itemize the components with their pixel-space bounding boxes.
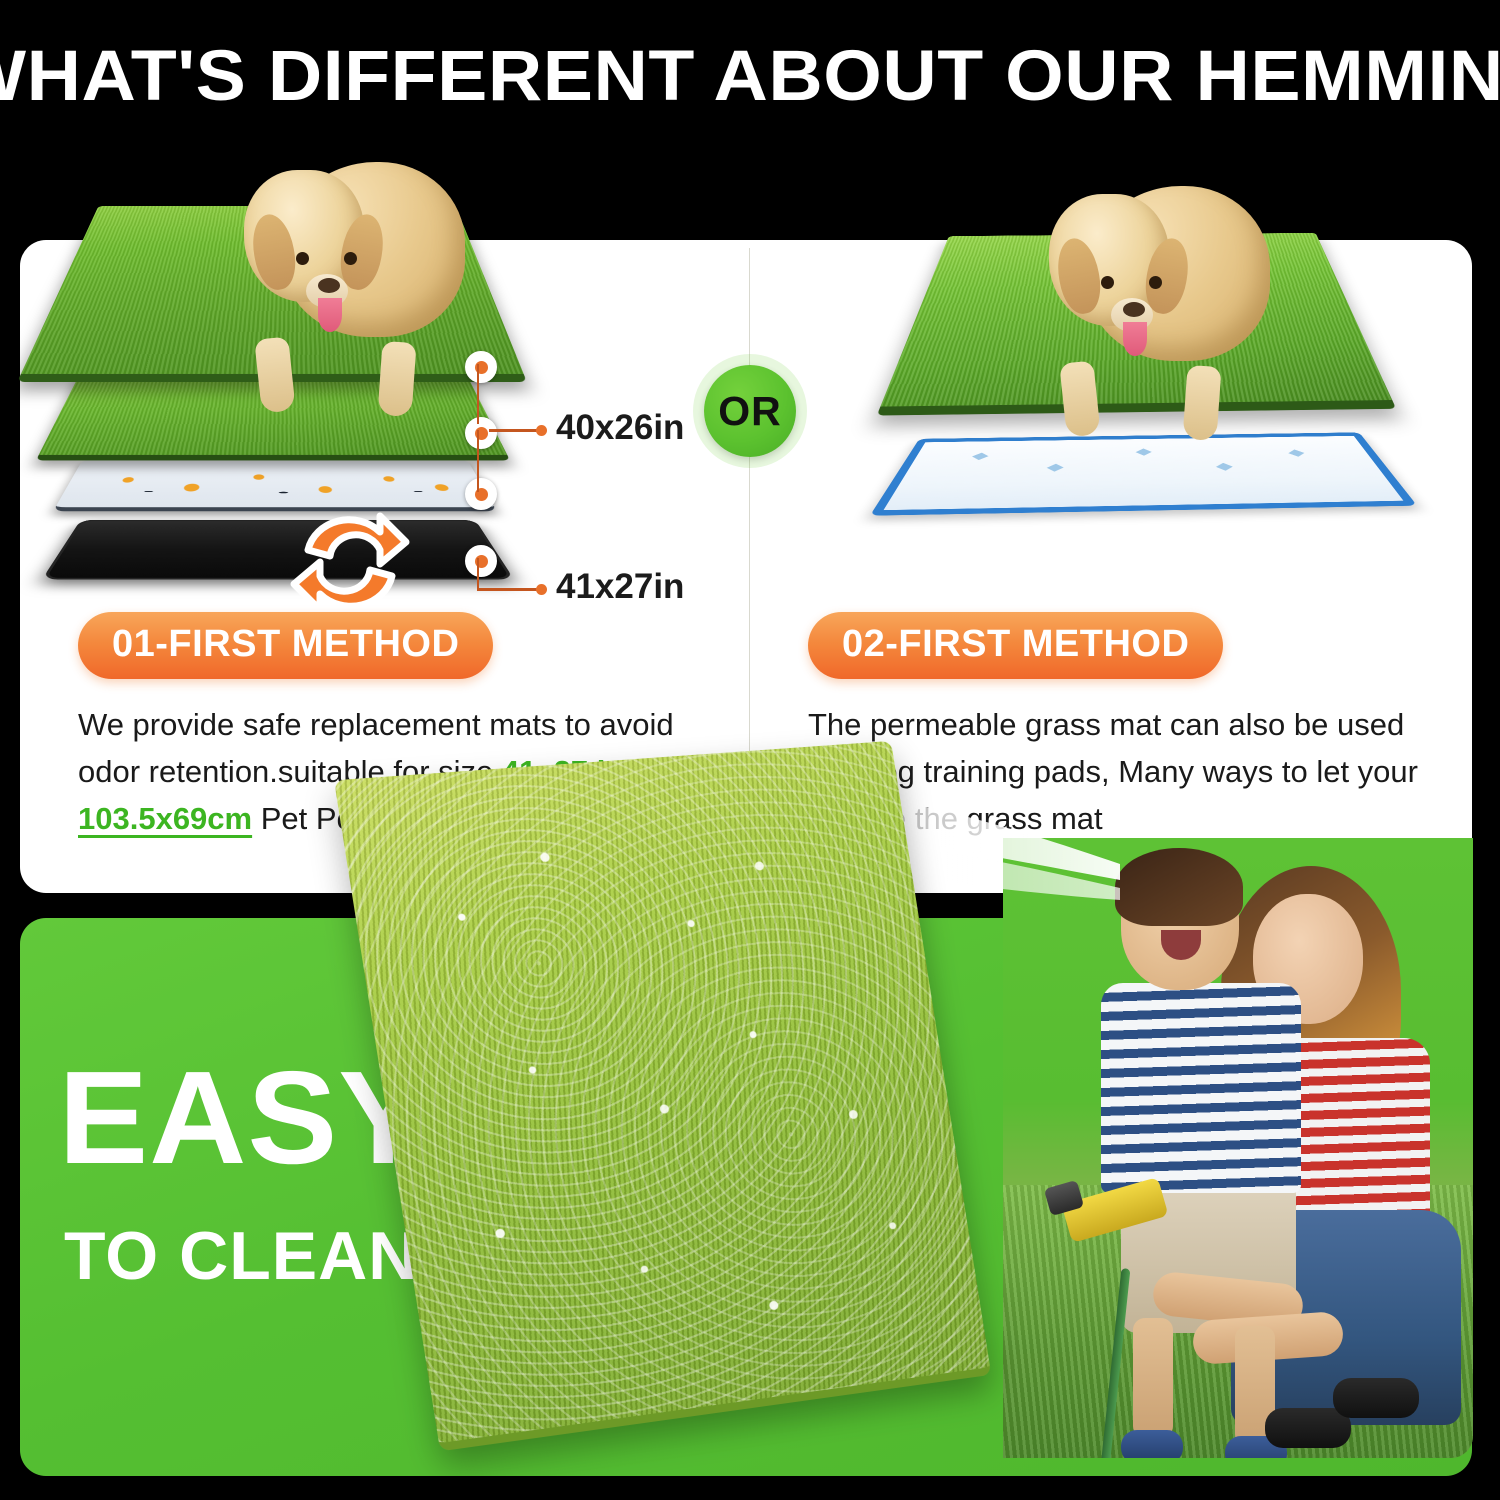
dog-eye-right <box>344 252 357 265</box>
woman-shoe-right <box>1333 1378 1419 1418</box>
callout-dot-4 <box>465 545 497 577</box>
or-badge: OR <box>704 365 796 457</box>
woman-shoe-left <box>1265 1408 1351 1448</box>
page-title: WHAT'S DIFFERENT ABOUT OUR HEMMING GRASS… <box>0 36 1500 117</box>
method-badge-2: 02-FIRST METHOD <box>808 612 1223 679</box>
dog-paw-left <box>1059 360 1101 437</box>
callout-label-41x27in: 41x27in <box>556 567 684 607</box>
callout-endpoint-2 <box>536 584 547 595</box>
dog-ear-left <box>1053 235 1106 317</box>
patterned-pad-layer <box>53 459 497 511</box>
swap-arrows-icon <box>288 504 412 622</box>
panel-heading-easy: EASY <box>58 1052 429 1184</box>
callout-connector-1 <box>489 429 538 432</box>
callout-dot-1 <box>465 351 497 383</box>
dog-eye-left <box>296 252 309 265</box>
grass-mat-over-training-pad <box>890 150 1450 570</box>
boy-leg-left <box>1133 1318 1173 1438</box>
boy-shoe-left <box>1121 1430 1183 1458</box>
dog-paw-left <box>254 336 296 413</box>
boy-striped-shirt <box>1101 983 1301 1193</box>
callout-dot-2 <box>465 417 497 449</box>
method-badge-1: 01-FIRST METHOD <box>78 612 493 679</box>
layered-product-stack <box>55 132 525 602</box>
dog-nose <box>318 278 340 293</box>
dog-eye-left <box>1101 276 1114 289</box>
infographic-stage: WHAT'S DIFFERENT ABOUT OUR HEMMING GRASS… <box>0 0 1500 1500</box>
callout-dot-3 <box>465 478 497 510</box>
callout-connector-2 <box>477 588 538 591</box>
dog-paw-right <box>1182 365 1221 441</box>
callout-connector-vertical-3 <box>477 558 479 590</box>
wet-grass-mat-surface <box>334 741 991 1451</box>
callout-connector-vertical-2 <box>477 430 479 492</box>
dog-tongue <box>318 298 342 332</box>
dog-head <box>1049 194 1169 326</box>
panel-subheading-to-clean: TO CLEAN <box>64 1222 418 1290</box>
black-tray-layer <box>42 520 514 580</box>
dog-head <box>244 170 364 302</box>
dog-paw-right <box>377 341 416 417</box>
dog-eye-right <box>1149 276 1162 289</box>
boy-hair <box>1115 848 1243 926</box>
wet-grass-mat-hero <box>392 756 952 1416</box>
golden-retriever-right <box>1025 166 1275 456</box>
dog-ear-left <box>248 211 301 293</box>
callout-label-40x26in: 40x26in <box>556 408 684 448</box>
callout-connector-vertical-1 <box>477 364 479 424</box>
golden-retriever-left <box>220 142 470 432</box>
dog-tongue <box>1123 322 1147 356</box>
callout-endpoint-1 <box>536 425 547 436</box>
dog-nose <box>1123 302 1145 317</box>
family-hose-photo <box>1003 838 1473 1458</box>
